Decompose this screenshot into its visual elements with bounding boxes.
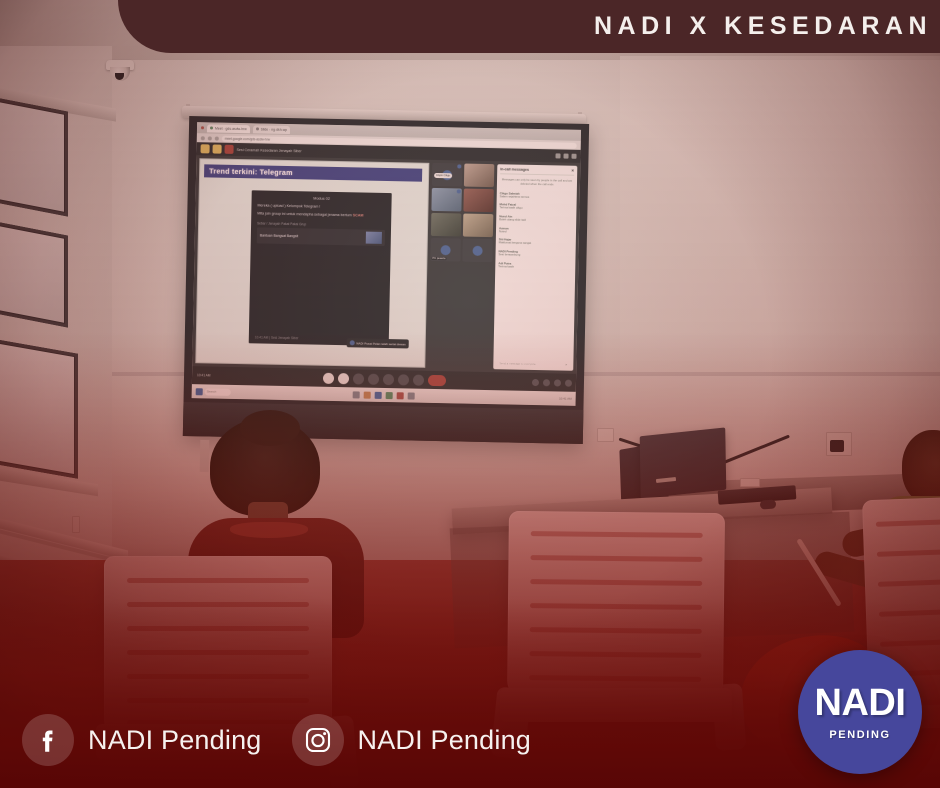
participant-tile[interactable] xyxy=(431,213,461,237)
tab-favicon xyxy=(256,127,259,130)
chair-slat xyxy=(530,555,703,562)
participant-tile[interactable]: PC peserta xyxy=(430,238,460,262)
explorer-icon[interactable] xyxy=(353,391,360,398)
chat-privacy-note: Messages can only be seen by people in t… xyxy=(500,176,574,189)
maximize-icon[interactable] xyxy=(563,154,568,159)
meet-window-title: Sesi Ceramah Kesedaran Jenayah Siber xyxy=(237,147,302,152)
participant-tile[interactable] xyxy=(464,164,494,188)
reload-icon[interactable] xyxy=(215,136,219,140)
window-close-dot xyxy=(201,126,204,129)
instagram-handle: NADI Pending xyxy=(358,725,532,756)
app-icon[interactable] xyxy=(408,392,415,399)
browser-tab[interactable]: Slide - ng-dkh-wp xyxy=(253,125,291,134)
chat-text: Sesi bersambung xyxy=(498,253,572,258)
close-icon[interactable] xyxy=(571,154,576,159)
chat-button[interactable] xyxy=(554,379,561,386)
browser-icon[interactable] xyxy=(364,391,371,398)
in-call-messages-panel: In-call messages ✕ Messages can only be … xyxy=(493,164,577,371)
chat-message: Azman Noted xyxy=(499,225,573,236)
forward-arrow-icon[interactable] xyxy=(208,136,212,140)
participant-tiles: Unpin Cikgu xyxy=(428,163,494,369)
google-meet-app: Sesi Ceramah Kesedaran Jenayah Siber Tre… xyxy=(192,142,581,392)
person-collar xyxy=(230,522,308,538)
wall-outlet xyxy=(72,516,80,533)
chat-message: Siti Hajar Maklumat berguna sangat xyxy=(499,237,573,248)
photo-scene: Meet - gds-asdw-hrw Slide - ng-dkh-wp me… xyxy=(0,0,940,788)
join-toast: NADI Pusat Pelan telah sertai dewan xyxy=(346,338,409,348)
meet-body: Trend terkini: Telegram Modus 02 Mereka … xyxy=(192,155,580,374)
projector-screen: Meet - gds-asdw-hrw Slide - ng-dkh-wp me… xyxy=(183,116,589,444)
captions-button[interactable] xyxy=(352,373,363,384)
app-icon-red xyxy=(225,145,234,154)
chat-text: Noted xyxy=(499,230,573,235)
camera-button[interactable] xyxy=(337,373,348,384)
window-pane xyxy=(0,338,78,479)
toast-avatar xyxy=(349,340,354,345)
participant-tile[interactable] xyxy=(462,239,492,263)
chat-message: NADI Pending Sesi bersambung xyxy=(498,248,572,259)
chair-slat xyxy=(877,548,940,557)
chat-message: Nurul Ain Boleh ulang slide tadi xyxy=(499,213,573,224)
chair-slat xyxy=(530,531,703,538)
cable-outlet xyxy=(740,478,760,487)
app-icon-yellow xyxy=(201,144,210,153)
slide-line-text: Mita join group ini untuk mendapha sebag… xyxy=(257,211,352,217)
activities-button[interactable] xyxy=(565,379,572,386)
chair-slat xyxy=(127,626,309,631)
facebook-handle: NADI Pending xyxy=(88,725,262,756)
chair-slat xyxy=(127,578,309,583)
participant-name: PC peserta xyxy=(431,257,446,260)
chair-slat xyxy=(530,579,703,586)
chat-text: Terima kasih xyxy=(498,265,572,270)
slide-line: Mita join group ini untuk mendapha sebag… xyxy=(257,211,385,218)
window-pane xyxy=(0,96,68,216)
browser-tab-label: Meet - gds-asdw-hrw xyxy=(215,126,247,131)
mouse xyxy=(760,499,777,509)
back-arrow-icon[interactable] xyxy=(201,136,205,140)
chair-slat xyxy=(878,578,940,587)
person-head xyxy=(902,430,940,504)
projected-browser-window: Meet - gds-asdw-hrw Slide - ng-dkh-wp me… xyxy=(192,122,581,406)
taskbar-clock: 10:41 AM xyxy=(559,396,572,400)
wall-socket xyxy=(597,428,614,442)
info-button[interactable] xyxy=(532,378,539,385)
meet-right-controls xyxy=(532,378,572,386)
tile-row: Unpin Cikgu xyxy=(432,163,494,187)
raise-hand-button[interactable] xyxy=(397,374,408,385)
chair-slat xyxy=(127,650,309,655)
chat-input[interactable]: Send a message to everyone ➤ xyxy=(496,359,570,367)
slide-thumbnail xyxy=(366,231,382,243)
slide-inline-card: Bantuan Bangsat Bangsit xyxy=(257,227,385,246)
badge-main-text: NADI xyxy=(815,684,906,722)
more-options-button[interactable] xyxy=(412,374,423,385)
chair-slat xyxy=(529,651,702,658)
slide-card-text: Bantuan Bangsat Bangsit xyxy=(260,233,298,238)
instagram-icon xyxy=(292,714,344,766)
present-button[interactable] xyxy=(382,373,393,384)
chair-slat xyxy=(529,675,702,682)
window-pane xyxy=(0,220,68,327)
chat-text: Salam sejahtera semua xyxy=(500,195,574,200)
tile-row xyxy=(431,188,493,212)
chair-slat xyxy=(879,608,940,617)
sheets-icon[interactable] xyxy=(386,392,393,399)
slide-footer: 10.41 AM | Sesi Jenayah Siber xyxy=(255,335,299,340)
chat-text: Terima kasih cikgu xyxy=(499,207,573,212)
wall-rail xyxy=(0,518,128,561)
close-icon[interactable]: ✕ xyxy=(571,169,574,173)
taskbar-left: Search xyxy=(196,388,231,396)
participant-tile[interactable] xyxy=(463,189,493,213)
chair-slat xyxy=(880,638,940,647)
participant-tile[interactable] xyxy=(431,188,461,212)
chrome-icon[interactable] xyxy=(375,391,382,398)
chat-message: Mohd Faizal Terima kasih cikgu xyxy=(499,202,573,213)
mic-badge-icon xyxy=(457,164,461,168)
slide-subtext: Sebar / Jenayah Pakat Pakai Grup xyxy=(257,221,385,228)
mic-badge-icon xyxy=(457,189,461,193)
chair-slat xyxy=(127,674,309,679)
badge-sub-text: PENDING xyxy=(829,729,890,741)
chat-title: In-call messages xyxy=(500,167,529,172)
nadi-pending-logo-badge: NADI PENDING xyxy=(798,650,922,774)
chat-input-placeholder: Send a message to everyone xyxy=(499,361,535,366)
meet-clock: 10:41 AM xyxy=(197,373,211,377)
minimize-icon[interactable] xyxy=(555,153,560,158)
slide-content-card: Modus 02 Mereka ( upload ) Kelompok Tele… xyxy=(249,190,392,346)
start-icon[interactable] xyxy=(196,388,203,395)
poster-stage: Meet - gds-asdw-hrw Slide - ng-dkh-wp me… xyxy=(0,0,940,788)
chair-slat xyxy=(127,602,309,607)
chair-slat xyxy=(529,627,702,634)
chat-message: Adi Putra Terima kasih xyxy=(498,260,572,271)
chat-header: In-call messages ✕ xyxy=(500,167,574,175)
window-glass xyxy=(0,225,64,323)
app-icon-yellow xyxy=(213,144,222,153)
slide-title: Trend terkini: Telegram xyxy=(204,164,422,181)
chair-slat xyxy=(876,518,940,527)
facebook-icon xyxy=(22,714,74,766)
window-glass xyxy=(0,343,74,474)
browser-tab[interactable]: Meet - gds-asdw-hrw xyxy=(207,124,250,133)
chat-text: Maklumat berguna sangat xyxy=(499,242,573,247)
avatar xyxy=(473,245,483,255)
pin-chip[interactable]: Unpin Cikgu xyxy=(434,173,452,178)
taskbar-search-input[interactable]: Search xyxy=(205,388,231,396)
slide-highlight: SCAM xyxy=(353,213,364,217)
browser-tab-label: Slide - ng-dkh-wp xyxy=(261,127,287,132)
send-icon[interactable]: ➤ xyxy=(565,362,567,366)
mic-button[interactable] xyxy=(322,372,333,383)
reactions-button[interactable] xyxy=(367,373,378,384)
projection-surface: Meet - gds-asdw-hrw Slide - ng-dkh-wp me… xyxy=(192,122,581,406)
person-hair-tuft xyxy=(240,410,300,446)
slide-heading: Modus 02 xyxy=(258,195,386,202)
people-button[interactable] xyxy=(543,379,550,386)
presented-slide: Trend terkini: Telegram Modus 02 Mereka … xyxy=(195,158,429,368)
slides-icon[interactable] xyxy=(397,392,404,399)
tile-row: PC peserta xyxy=(430,238,492,262)
window-controls xyxy=(555,153,576,158)
toast-text: NADI Pusat Pelan telah sertai dewan xyxy=(356,341,405,346)
social-instagram[interactable]: NADI Pending xyxy=(292,714,532,766)
power-plug xyxy=(830,440,844,452)
laptop xyxy=(640,427,727,498)
chat-message: Cikgu Salmiah Salam sejahtera semua xyxy=(500,190,574,201)
cctv-camera-icon xyxy=(106,60,134,84)
chair-backrest xyxy=(507,511,725,699)
banner-title: NADI X KESEDARAN xyxy=(594,12,932,41)
participant-tile[interactable] xyxy=(463,214,493,238)
hangup-button[interactable] xyxy=(427,374,445,385)
window-glass xyxy=(0,101,64,212)
participant-tile[interactable]: Unpin Cikgu xyxy=(432,163,462,187)
tile-row xyxy=(431,213,493,237)
avatar xyxy=(441,245,451,255)
slide-line: Mereka ( upload ) Kelompok Telegram ! xyxy=(257,203,385,210)
header-banner: NADI X KESEDARAN xyxy=(118,0,940,53)
social-facebook[interactable]: NADI Pending xyxy=(22,714,262,766)
chat-text: Boleh ulang slide tadi xyxy=(499,218,573,223)
tab-favicon xyxy=(210,126,213,129)
chair-slat xyxy=(530,603,703,610)
